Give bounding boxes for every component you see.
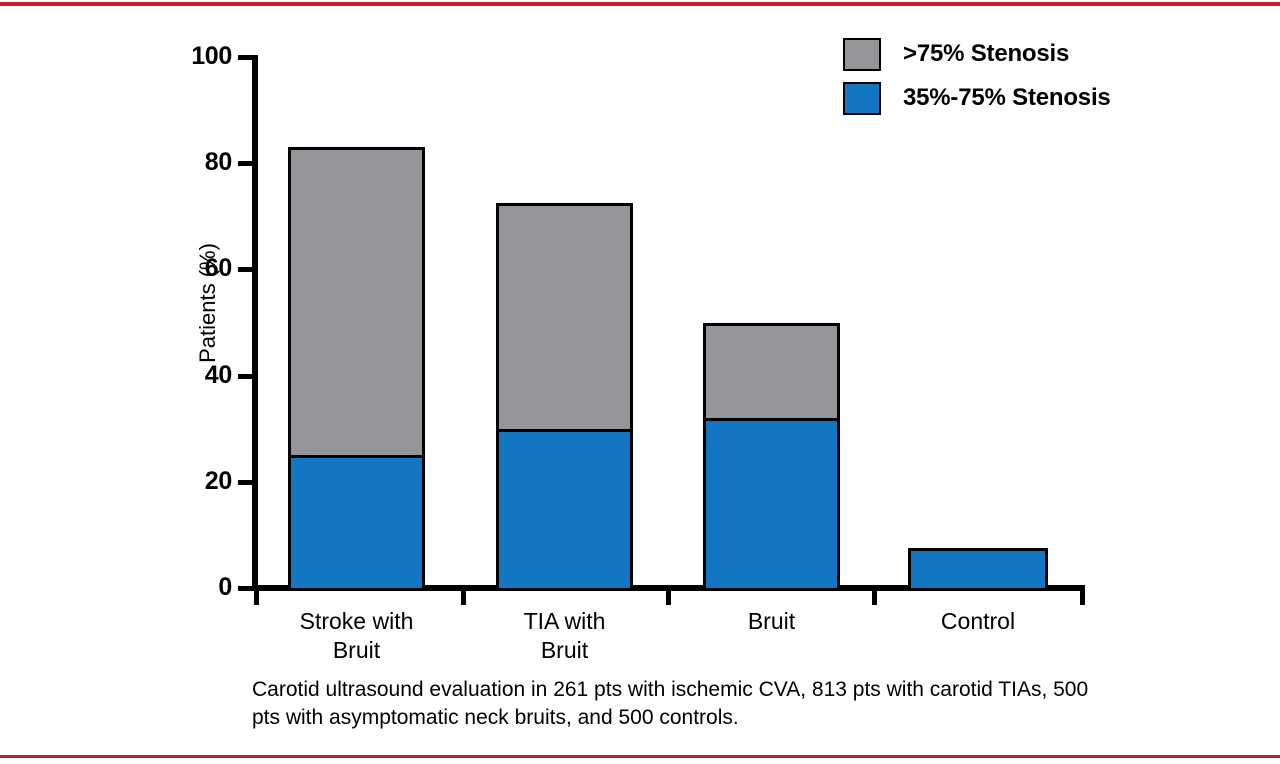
figure-caption: Carotid ultrasound evaluation in 261 pts… <box>252 676 1097 731</box>
bar-segment-35-75-stenosis <box>288 455 425 591</box>
x-axis-tick <box>872 590 877 605</box>
bar-segment-over-75-stenosis <box>288 147 425 458</box>
y-axis-tick <box>238 161 253 166</box>
y-axis-tick-label: 80 <box>205 150 232 175</box>
legend-label: >75% Stenosis <box>903 40 1069 68</box>
x-axis-tick <box>461 590 466 605</box>
x-axis-category-label-line: Bruit <box>663 607 880 636</box>
y-axis-tick <box>238 374 253 379</box>
x-axis-category-label: Bruit <box>663 607 880 636</box>
figure-panel: Patients (%) 020406080100 Stroke withBru… <box>0 0 1280 764</box>
y-axis-spine <box>252 55 258 590</box>
x-axis-category-label: TIA withBruit <box>456 607 673 666</box>
y-axis-tick <box>238 267 253 272</box>
legend-item[interactable]: 35%-75% Stenosis <box>843 76 1111 120</box>
bar-segment-35-75-stenosis <box>496 429 633 591</box>
y-axis-tick-label: 20 <box>205 469 232 494</box>
x-axis-tick <box>254 590 259 605</box>
bar-segment-35-75-stenosis <box>908 548 1048 591</box>
y-axis-tick-label: 40 <box>205 363 232 388</box>
bar-segment-over-75-stenosis <box>703 323 840 422</box>
x-axis-category-label-line: Stroke with <box>248 607 465 636</box>
y-axis-tick <box>238 480 253 485</box>
chart-legend: >75% Stenosis35%-75% Stenosis <box>843 32 1111 120</box>
y-axis-tick <box>238 55 253 60</box>
legend-swatch <box>843 82 881 115</box>
x-axis-category-label-line: Bruit <box>248 636 465 665</box>
y-axis-tick <box>238 586 253 591</box>
bar-segment-over-75-stenosis <box>496 203 633 432</box>
y-axis-tick-label: 0 <box>218 575 232 600</box>
y-axis-tick-label: 100 <box>191 44 232 69</box>
legend-label: 35%-75% Stenosis <box>903 84 1111 112</box>
x-axis-category-label: Stroke withBruit <box>248 607 465 666</box>
x-axis-category-label-line: Control <box>868 607 1088 636</box>
x-axis-category-label-line: TIA with <box>456 607 673 636</box>
x-axis-tick <box>1080 590 1085 605</box>
legend-item[interactable]: >75% Stenosis <box>843 32 1111 76</box>
bar-segment-35-75-stenosis <box>703 418 840 591</box>
x-axis-tick <box>666 590 671 605</box>
y-axis-tick-label: 60 <box>205 256 232 281</box>
x-axis-category-label-line: Bruit <box>456 636 673 665</box>
x-axis-category-label: Control <box>868 607 1088 636</box>
legend-swatch <box>843 38 881 71</box>
